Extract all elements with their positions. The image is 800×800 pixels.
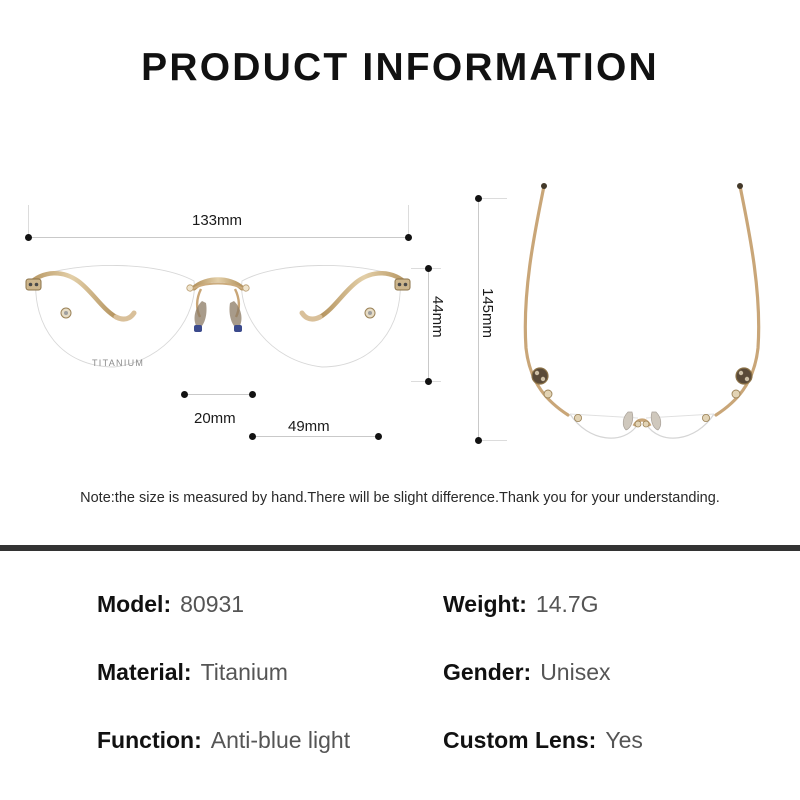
spec-label: Custom Lens: bbox=[443, 727, 596, 754]
dimension-dot bbox=[475, 437, 482, 444]
section-divider bbox=[0, 545, 800, 551]
lens-engraving-text: TITANIUM bbox=[92, 358, 144, 368]
spec-item-custom-lens: Custom Lens: Yes bbox=[443, 727, 643, 754]
glasses-folded-view-image bbox=[492, 180, 792, 455]
specification-table: Model: 80931 Weight: 14.7G Material: Tit… bbox=[0, 585, 800, 785]
dimension-diagram-area: 133mm 44mm 20mm 49mm 145mm bbox=[0, 160, 800, 480]
dimension-dot bbox=[249, 433, 256, 440]
dimension-line-bridge-width bbox=[184, 394, 252, 395]
spec-row: Material: Titanium Gender: Unisex bbox=[0, 659, 800, 693]
spec-item-function: Function: Anti-blue light bbox=[97, 727, 350, 754]
spec-label: Material: bbox=[97, 659, 192, 686]
spec-label: Weight: bbox=[443, 591, 527, 618]
spec-row: Function: Anti-blue light Custom Lens: Y… bbox=[0, 727, 800, 761]
dimension-line-lens-width bbox=[252, 436, 378, 437]
dimension-line-total-width bbox=[28, 237, 408, 238]
spec-item-material: Material: Titanium bbox=[97, 659, 288, 686]
spec-value: Titanium bbox=[201, 659, 288, 686]
spec-value: Anti-blue light bbox=[211, 727, 350, 754]
page-title: PRODUCT INFORMATION bbox=[0, 46, 800, 90]
spec-label: Model: bbox=[97, 591, 171, 618]
spec-row: Model: 80931 Weight: 14.7G bbox=[0, 591, 800, 625]
spec-value: 14.7G bbox=[536, 591, 599, 618]
spec-value: Yes bbox=[605, 727, 643, 754]
spec-value: 80931 bbox=[180, 591, 244, 618]
glasses-front-view-image bbox=[18, 255, 418, 385]
dimension-dot bbox=[425, 378, 432, 385]
dimension-label-lens-width: 49mm bbox=[288, 418, 330, 435]
measurement-note: Note:the size is measured by hand.There … bbox=[0, 490, 800, 506]
spec-label: Gender: bbox=[443, 659, 531, 686]
dimension-label-lens-height: 44mm bbox=[429, 296, 446, 338]
dimension-label-total-width: 133mm bbox=[192, 212, 242, 229]
extension-line-left bbox=[28, 205, 29, 237]
dimension-dot bbox=[475, 195, 482, 202]
extension-line-right bbox=[408, 205, 409, 237]
dimension-dot bbox=[25, 234, 32, 241]
spec-item-model: Model: 80931 bbox=[97, 591, 244, 618]
dimension-dot bbox=[249, 391, 256, 398]
dimension-label-bridge-width: 20mm bbox=[194, 410, 236, 427]
product-information-page: PRODUCT INFORMATION 133mm 44mm 20mm 49mm bbox=[0, 0, 800, 800]
spec-item-gender: Gender: Unisex bbox=[443, 659, 611, 686]
dimension-dot bbox=[425, 265, 432, 272]
dimension-dot bbox=[181, 391, 188, 398]
spec-label: Function: bbox=[97, 727, 202, 754]
spec-item-weight: Weight: 14.7G bbox=[443, 591, 599, 618]
dimension-dot bbox=[405, 234, 412, 241]
spec-value: Unisex bbox=[540, 659, 610, 686]
dimension-dot bbox=[375, 433, 382, 440]
